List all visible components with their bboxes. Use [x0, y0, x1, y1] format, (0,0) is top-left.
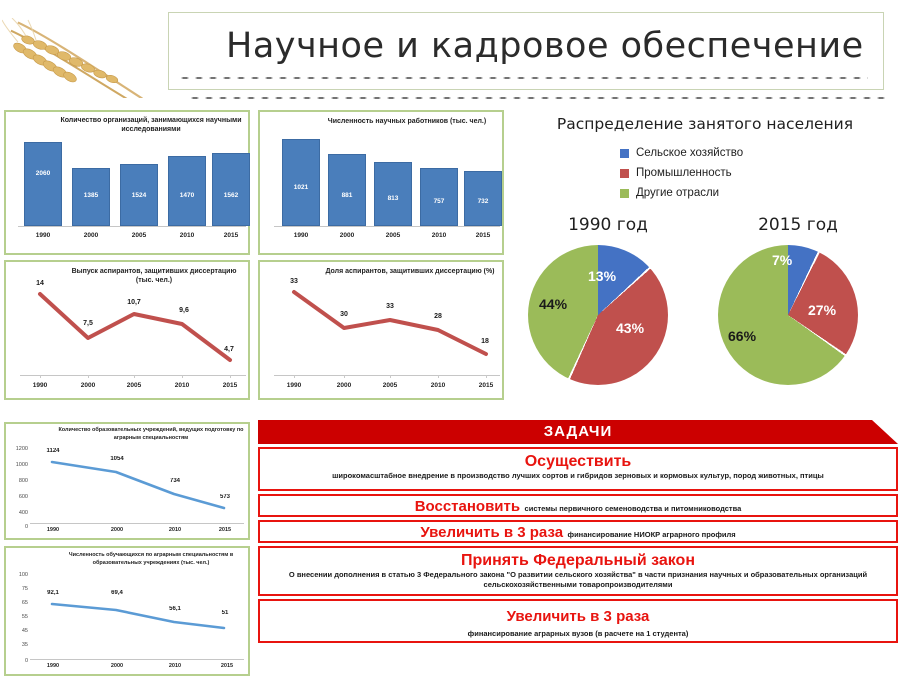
xtick-2010: 2010 [168, 232, 206, 239]
task-1-title: Осуществить [266, 452, 890, 471]
xtick-2000: 2000 [70, 382, 106, 389]
pie-slice-label-industry-1990: 43% [616, 320, 644, 336]
chart-panel-agro-institutions: Количество образовательных учреждений, в… [4, 422, 250, 540]
point-value-2015: 18 [470, 338, 500, 345]
point-value-2015: 51 [210, 610, 240, 616]
point-value-1990: 1124 [36, 448, 70, 454]
xtick-1990: 1990 [36, 663, 70, 669]
point-value-2015: 573 [208, 494, 242, 500]
xtick-2015: 2015 [464, 232, 502, 239]
xtick-2000: 2000 [100, 663, 134, 669]
chart-panel-postgrad-defended: Выпуск аспирантов, защитивших диссертаци… [4, 260, 250, 400]
task-1-description: широкомасштабное внедрение в производств… [266, 471, 890, 481]
pie-slice-label-other-2015: 66% [728, 328, 756, 344]
point-value-2000: 1054 [100, 456, 134, 462]
xtick-2015: 2015 [212, 382, 248, 389]
pie-legend: Сельское хозяйство Промышленность Другие… [620, 143, 743, 203]
bar-value-2000: 1385 [72, 192, 110, 199]
xtick-1990: 1990 [22, 382, 58, 389]
xtick-2010: 2010 [164, 382, 200, 389]
pie-chart-1990 [528, 245, 668, 385]
xtick-2015: 2015 [212, 232, 250, 239]
xtick-2000: 2000 [328, 232, 366, 239]
pie-year-1990: 1990 год [548, 215, 668, 235]
point-value-2010: 9,6 [166, 307, 202, 314]
bar-value-1990: 2060 [24, 170, 62, 177]
xtick-1990: 1990 [36, 527, 70, 533]
task-item-2[interactable]: Восстановить системы первичного семеново… [258, 494, 898, 517]
pie-section-title: Распределение занятого населения [520, 115, 890, 133]
task-5-description: финансирование аграрных вузов (в расчете… [266, 629, 890, 639]
tasks-section: ЗАДАЧИ Осуществить широкомасштабное внед… [258, 420, 898, 643]
legend-item-other: Другие отрасли [620, 183, 743, 203]
bar-value-2005: 1524 [120, 192, 158, 199]
legend-label-industry: Промышленность [636, 167, 732, 179]
legend-label-other: Другие отрасли [636, 187, 719, 199]
task-item-3[interactable]: Увеличить в 3 раза финансирование НИОКР … [258, 520, 898, 543]
point-value-1990: 14 [22, 280, 58, 287]
chart-title-organizations: Количество организаций, занимающихся нау… [58, 116, 244, 134]
bar-1990 [282, 139, 320, 226]
slide-header: Научное и кадровое обеспечение [0, 0, 900, 100]
bar-value-2015: 1562 [212, 192, 250, 199]
xtick-2005: 2005 [372, 382, 408, 389]
xtick-2010: 2010 [420, 382, 456, 389]
line-series-agro-institutions [6, 424, 248, 538]
task-item-4[interactable]: Принять Федеральный закон О внесении доп… [258, 546, 898, 596]
presentation-slide: Научное и кадровое обеспечение Количеств… [0, 0, 900, 691]
point-value-2010: 28 [422, 313, 454, 320]
task-item-1[interactable]: Осуществить широкомасштабное внедрение в… [258, 447, 898, 491]
task-2-title: Восстановить [415, 498, 520, 515]
legend-label-agriculture: Сельское хозяйство [636, 147, 743, 159]
point-value-1990: 33 [278, 278, 310, 285]
title-dot-divider-bottom [188, 96, 888, 100]
point-value-2005: 33 [374, 303, 406, 310]
xtick-2000: 2000 [72, 232, 110, 239]
legend-swatch-other [620, 189, 629, 198]
bar-2010 [420, 168, 458, 226]
xtick-2015: 2015 [208, 527, 242, 533]
bar-value-2000: 881 [328, 192, 366, 199]
point-value-2005: 10,7 [116, 299, 152, 306]
pie-slice-label-agriculture-1990: 13% [588, 268, 616, 284]
xtick-2015: 2015 [210, 663, 244, 669]
xtick-2010: 2010 [158, 663, 192, 669]
chart-panel-postgrad-share: Доля аспирантов, защитивших диссертацию … [258, 260, 504, 400]
pie-slice-label-other-1990: 44% [539, 296, 567, 312]
pie-year-2015: 2015 год [738, 215, 858, 235]
point-value-2000: 7,5 [70, 320, 106, 327]
tasks-heading-label: ЗАДАЧИ [544, 423, 612, 440]
xtick-2015: 2015 [468, 382, 504, 389]
bar-2005 [374, 162, 412, 226]
bar-2015 [212, 153, 250, 226]
legend-item-agriculture: Сельское хозяйство [620, 143, 743, 163]
page-title: Научное и кадровое обеспечение [226, 26, 866, 78]
legend-swatch-agriculture [620, 149, 629, 158]
chart-panel-agro-students: Численность обучающихся по аграрным спец… [4, 546, 250, 676]
corner-fold-decoration [872, 420, 898, 444]
tasks-heading: ЗАДАЧИ [258, 420, 898, 444]
task-2-description: системы первичного семеноводства и питом… [525, 504, 742, 513]
point-value-2015: 4,7 [212, 346, 246, 353]
task-4-title: Принять Федеральный закон [266, 551, 890, 570]
legend-item-industry: Промышленность [620, 163, 743, 183]
xtick-2010: 2010 [158, 527, 192, 533]
point-value-2000: 30 [328, 311, 360, 318]
point-value-1990: 92,1 [36, 590, 70, 596]
bar-2010 [168, 156, 206, 226]
wheat-ears-icon [2, 18, 162, 98]
chart-panel-organizations: Количество организаций, занимающихся нау… [4, 110, 250, 255]
point-value-2010: 56,1 [158, 606, 192, 612]
chart-title-researchers: Численность научных работников (тыс. чел… [316, 117, 498, 126]
bar-value-2010: 1470 [168, 192, 206, 199]
chart-panel-researchers: Численность научных работников (тыс. чел… [258, 110, 504, 255]
xtick-2005: 2005 [374, 232, 412, 239]
point-value-2000: 69,4 [100, 590, 134, 596]
xtick-1990: 1990 [276, 382, 312, 389]
bar-value-2010: 757 [420, 198, 458, 205]
pie-slice-label-agriculture-2015: 7% [772, 252, 792, 268]
bar-value-1990: 1021 [282, 184, 320, 191]
xtick-1990: 1990 [282, 232, 320, 239]
bar-value-2015: 732 [464, 198, 502, 205]
bar-1990 [24, 142, 62, 226]
xtick-1990: 1990 [24, 232, 62, 239]
task-3-description: финансирование НИОКР аграрного профиля [568, 530, 736, 539]
task-3-title: Увеличить в 3 раза [420, 524, 563, 541]
bar-value-2005: 813 [374, 195, 412, 202]
pie-slice-label-industry-2015: 27% [808, 302, 836, 318]
xtick-2005: 2005 [116, 382, 152, 389]
xtick-2010: 2010 [420, 232, 458, 239]
xtick-2000: 2000 [100, 527, 134, 533]
bar-2000 [328, 154, 366, 226]
task-5-title: Увеличить в 3 раза [266, 607, 890, 626]
task-item-5[interactable]: Увеличить в 3 раза финансирование аграрн… [258, 599, 898, 643]
xtick-2000: 2000 [326, 382, 362, 389]
legend-swatch-industry [620, 169, 629, 178]
xtick-2005: 2005 [120, 232, 158, 239]
point-value-2010: 734 [158, 478, 192, 484]
task-4-description: О внесении дополнения в статью 3 Федерал… [266, 570, 890, 590]
